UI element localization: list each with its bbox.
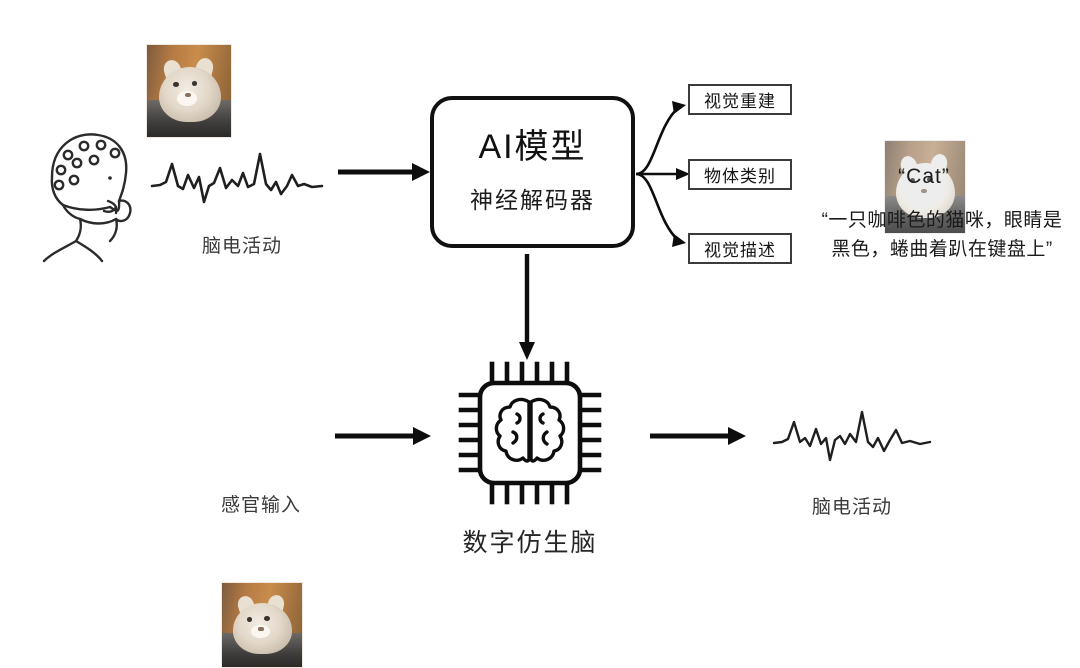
category-result-text: “Cat”: [844, 165, 1004, 189]
ai-model-subtitle: 神经解码器: [470, 181, 595, 215]
arrow-model-to-chip: [514, 252, 540, 362]
brain-chip-label: 数字仿生脑: [450, 523, 610, 559]
output-label: 视觉描述: [704, 236, 776, 261]
ai-model-box[interactable]: AI模型 神经解码器: [430, 96, 635, 248]
arrow-input-to-chip: [333, 423, 433, 449]
sensory-input-label: 感官输入: [181, 490, 341, 517]
eeg-input-label: 脑电活动: [162, 231, 322, 258]
output-visual-reconstruction[interactable]: 视觉重建: [688, 84, 792, 115]
brain-chip-icon[interactable]: [455, 358, 605, 508]
eeg-output-label: 脑电活动: [772, 492, 932, 519]
arrow-signal-to-model: [336, 158, 432, 186]
arrow-chip-to-output: [648, 423, 748, 449]
output-label: 物体类别: [704, 162, 776, 187]
ai-model-title: AI模型: [478, 129, 586, 166]
sensory-input-image: [221, 582, 303, 668]
stimulus-cat-image: [146, 44, 232, 138]
diagram-canvas: 脑电活动 AI模型 神经解码器 视觉重建 物体类别 视觉描述: [0, 0, 1080, 591]
fanout-arrows: [634, 88, 696, 260]
output-label: 视觉重建: [704, 87, 776, 112]
output-visual-description[interactable]: 视觉描述: [688, 233, 792, 264]
output-object-category[interactable]: 物体类别: [688, 159, 792, 190]
eeg-waveform-output: [772, 398, 932, 468]
eeg-waveform-input: [150, 142, 330, 212]
description-result-text: “一只咖啡色的猫咪，眼睛是黑色，蜷曲着趴在键盘上”: [812, 207, 1072, 264]
